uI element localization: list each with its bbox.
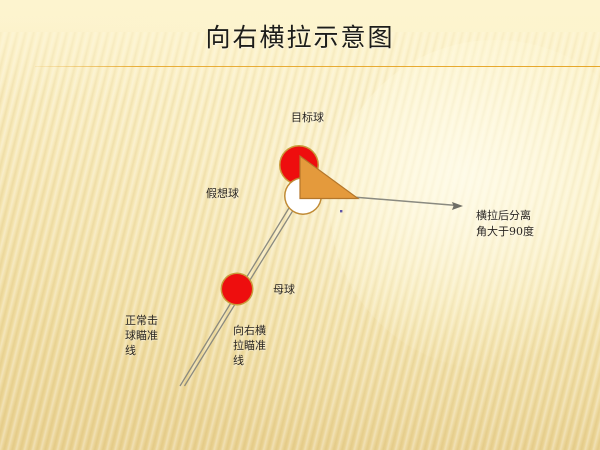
label-ghost-ball: 假想球 — [206, 186, 239, 201]
label-target-ball: 目标球 — [291, 110, 324, 125]
slide-canvas: 向右横拉示意图 目标球 假想球 母球 横拉后分离 角大于90度 正常击 球瞄准 … — [0, 0, 600, 450]
label-normal-aim-line: 正常击 球瞄准 线 — [125, 313, 173, 358]
label-draw-aim-line: 向右横 拉瞄准 线 — [233, 323, 281, 368]
separation-arrow-head — [452, 202, 463, 210]
label-separation-note: 横拉后分离 角大于90度 — [476, 208, 534, 240]
draw-direction-arrow — [300, 156, 358, 199]
label-cue-ball: 母球 — [273, 282, 295, 297]
cue-ball-fill — [222, 274, 252, 304]
contact-point-dot — [340, 210, 342, 212]
